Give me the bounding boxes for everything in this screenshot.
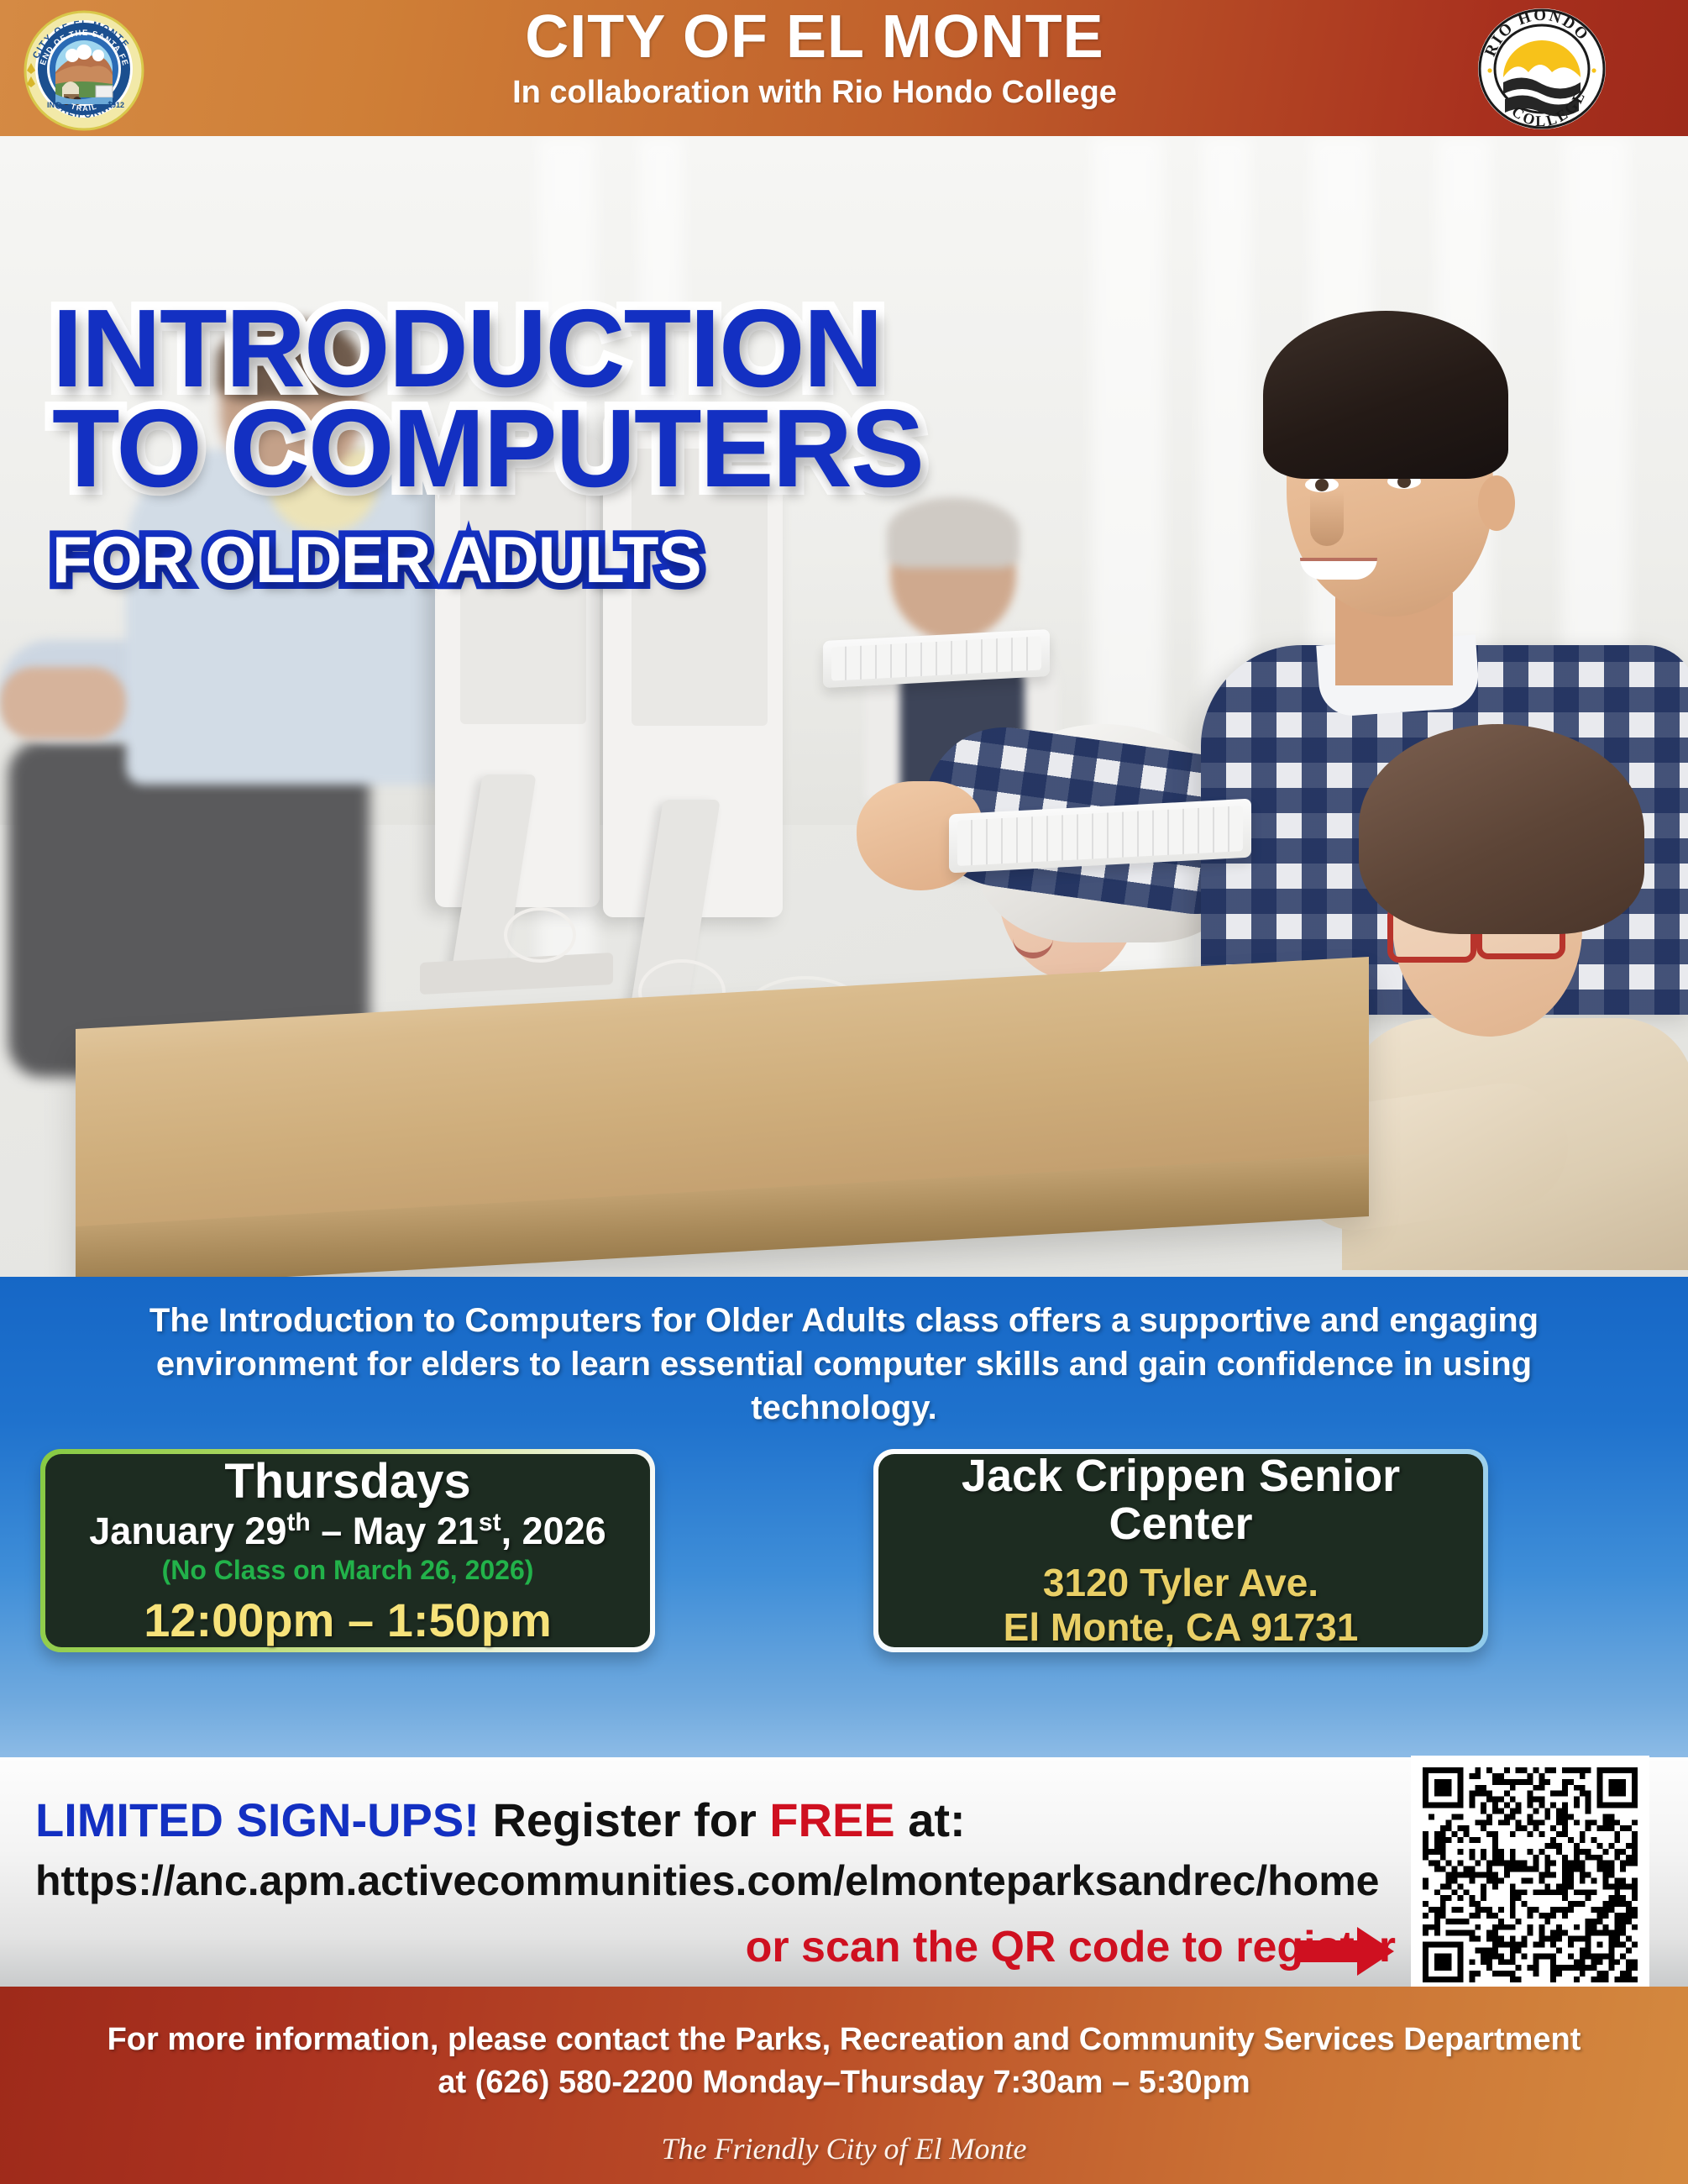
scan-qr-instruction: or scan the QR code to register [35, 1922, 1396, 1972]
right-arrow-icon [1298, 1925, 1396, 1977]
info-band: The Introduction to Computers for Older … [0, 1277, 1688, 1757]
footer-contact-line-1: For more information, please contact the… [25, 2019, 1663, 2061]
schedule-range-prefix: January 29 [89, 1509, 286, 1552]
page-subtitle: In collaboration with Rio Hondo College [168, 75, 1461, 111]
rio-hondo-college-logo-icon: RÍO HONDO COLLEGE [1471, 5, 1612, 133]
footer-contact: For more information, please contact the… [25, 2019, 1663, 2104]
location-card: Jack Crippen Senior Center 3120 Tyler Av… [873, 1449, 1488, 1652]
header-banner: CITY OF EL MONTE END OF THE SANTA FE TRA… [0, 0, 1688, 136]
footer-band: For more information, please contact the… [0, 1987, 1688, 2184]
hero-subtitle: FOR OLDER ADULTS [52, 522, 924, 598]
at-label: at: [895, 1793, 966, 1846]
page-title: CITY OF EL MONTE [168, 7, 1461, 68]
seal-inc-right: 1912 [107, 101, 124, 109]
flyer-page: CITY OF EL MONTE END OF THE SANTA FE TRA… [0, 0, 1688, 2184]
city-of-el-monte-seal-icon: CITY OF EL MONTE END OF THE SANTA FE TRA… [18, 7, 149, 131]
schedule-day: Thursdays [224, 1457, 470, 1507]
older-adult-glasses [1342, 724, 1688, 1262]
hero-title-line-1: INTRODUCTION [52, 296, 924, 401]
limited-signups-label: LIMITED SIGN-UPS! [35, 1793, 480, 1846]
hero-title-line-2: TO COMPUTERS [52, 396, 924, 501]
footer-contact-line-2: at (626) 580-2200 Monday–Thursday 7:30am… [25, 2061, 1663, 2104]
power-cable [504, 907, 576, 963]
hero-title-block: INTRODUCTION TO COMPUTERS FOR OLDER ADUL… [0, 296, 924, 598]
schedule-range-sup1: th [286, 1509, 310, 1536]
background-person-hand [0, 667, 126, 739]
hero-photo: INTRODUCTION TO COMPUTERS FOR OLDER ADUL… [0, 136, 1688, 1278]
registration-url[interactable]: https://anc.apm.activecommunities.com/el… [35, 1856, 1396, 1905]
location-address-line-1: 3120 Tyler Ave. [1004, 1561, 1359, 1604]
schedule-time: 12:00pm – 1:50pm [144, 1596, 552, 1646]
qr-code[interactable] [1411, 1756, 1649, 1994]
free-label: FREE [769, 1793, 894, 1846]
registration-headline: LIMITED SIGN-UPS! Register for FREE at: [35, 1793, 1379, 1847]
schedule-no-class-note: (No Class on March 26, 2026) [162, 1556, 534, 1585]
location-venue: Jack Crippen Senior Center [892, 1452, 1470, 1547]
schedule-range-suffix: , 2026 [501, 1509, 606, 1552]
schedule-card: Thursdays January 29th – May 21st, 2026 … [40, 1449, 655, 1652]
monitor-base [420, 953, 613, 995]
register-for-label: Register for [480, 1793, 769, 1846]
header-title-group: CITY OF EL MONTE In collaboration with R… [168, 7, 1461, 111]
location-address-line-2: El Monte, CA 91731 [1004, 1605, 1359, 1649]
seal-inc-left: INC. [47, 101, 62, 109]
footer-tagline: The Friendly City of El Monte [25, 2131, 1663, 2166]
schedule-range-sup2: st [479, 1509, 501, 1536]
schedule-range-mid: – May 21 [311, 1509, 479, 1552]
location-address: 3120 Tyler Ave. El Monte, CA 91731 [1004, 1561, 1359, 1649]
class-description: The Introduction to Computers for Older … [101, 1299, 1587, 1430]
schedule-date-range: January 29th – May 21st, 2026 [89, 1509, 605, 1552]
